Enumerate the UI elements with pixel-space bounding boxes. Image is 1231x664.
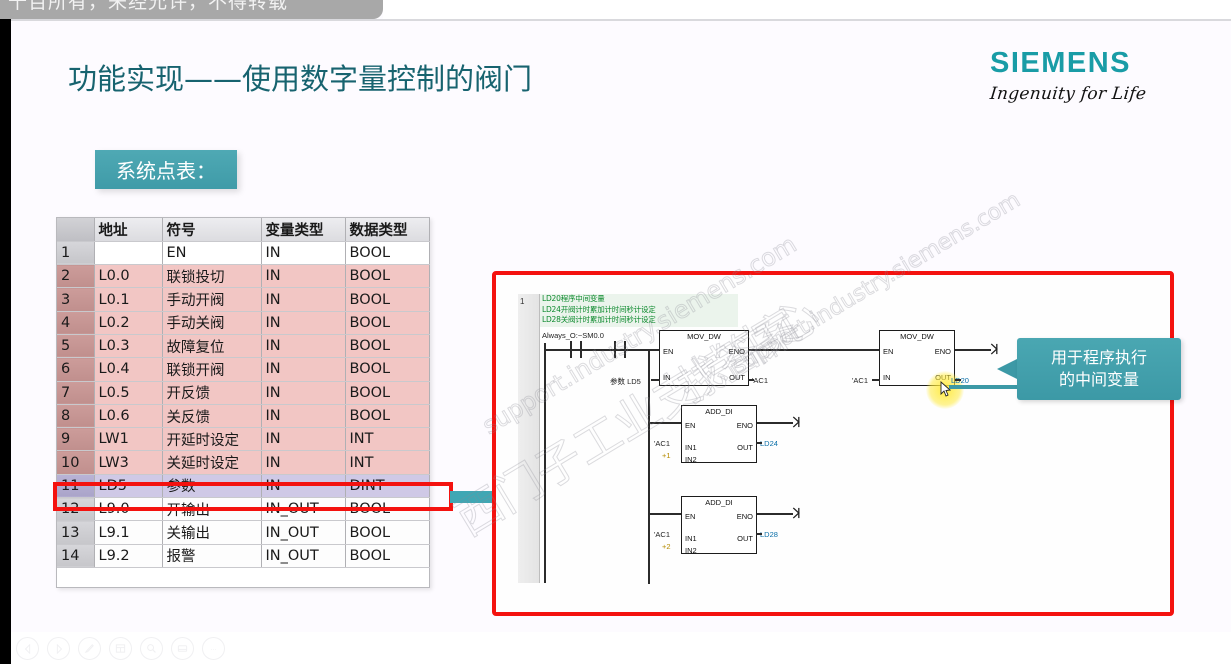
plc-diagram-panel[interactable]: 1 LD20程序中间变量 LD24开阀计时累加计时间秒计设定 LD28关阀计时累… — [492, 271, 1174, 616]
copyright-text: 千百所有，未经允许，不得转载 — [8, 0, 288, 14]
slide-viewer: 千百所有，未经允许，不得转载 功能实现——使用数字量控制的阀门 SIEMENS … — [0, 0, 1231, 664]
cell-address: L9.2 — [94, 544, 162, 567]
wire-branch-add1 — [648, 422, 682, 424]
network-comment-block: LD20程序中间变量 LD24开阀计时累加计时间秒计设定 LD28关阀计时累加计… — [540, 294, 738, 327]
cell-data-type: BOOL — [345, 334, 429, 357]
topbar-filler — [383, 0, 1231, 19]
pin-en: EN — [663, 347, 673, 356]
cell-address: LW3 — [94, 451, 162, 474]
cell-symbol: 开反馈 — [162, 381, 261, 404]
block-mov-dw-1[interactable]: MOV_DW EN ENO IN OUT — [659, 330, 749, 386]
row-number: 3 — [57, 288, 94, 311]
cell-var-type: IN — [261, 265, 345, 288]
contact-bar-left-a — [570, 341, 572, 358]
pin-en: EN — [883, 347, 893, 356]
row-number: 4 — [57, 311, 94, 334]
wire-out-mov1 — [748, 379, 754, 381]
row-number: 1 — [57, 241, 94, 264]
branch-vertical — [648, 349, 650, 584]
network-number: 1 — [520, 297, 524, 306]
input-label-add1-in1: 'AC1 — [654, 439, 670, 448]
cell-address: L9.1 — [94, 521, 162, 544]
cell-symbol: 故障复位 — [162, 334, 261, 357]
slide-view-button[interactable] — [171, 637, 194, 660]
row-number: 8 — [57, 404, 94, 427]
layout-icon — [115, 643, 126, 654]
input-label-ac1: 'AC1 — [852, 376, 868, 385]
triangle-left-icon — [23, 644, 33, 654]
cell-var-type: IN — [261, 428, 345, 451]
output-label-add1: LD24 — [760, 439, 778, 448]
cell-address: L0.3 — [94, 334, 162, 357]
coil-end-marker-3 — [792, 507, 801, 519]
cell-data-type: BOOL — [345, 288, 429, 311]
table-row[interactable]: 12 L9.0 开输出 IN_OUT BOOL — [57, 498, 429, 521]
cell-data-type: BOOL — [345, 265, 429, 288]
cell-symbol: 参数 — [162, 474, 261, 497]
coil-end-marker-1 — [990, 343, 999, 355]
comment-line-1: LD20程序中间变量 — [540, 294, 738, 305]
cell-address — [94, 241, 162, 264]
cell-var-type: IN — [261, 358, 345, 381]
block-name: ADD_DI — [682, 407, 756, 416]
cell-symbol: 联锁投切 — [162, 265, 261, 288]
callout-line-1: 用于程序执行 — [1051, 347, 1147, 369]
block-name: ADD_DI — [682, 498, 756, 507]
section-banner-label: 系统点表： — [95, 150, 237, 189]
row-number: 14 — [57, 544, 94, 567]
pin-eno: ENO — [935, 347, 951, 356]
pin-eno: ENO — [737, 512, 753, 521]
pin-in1: IN1 — [685, 534, 697, 543]
network-gutter — [518, 294, 540, 583]
table-row[interactable]: 6 L0.4 联锁开阀 IN BOOL — [57, 358, 429, 381]
left-black-edge — [0, 19, 11, 664]
cell-address: LD5 — [94, 474, 162, 497]
cell-var-type: IN — [261, 334, 345, 357]
wire-eno-add2 — [757, 513, 793, 515]
block-add-di-1[interactable]: ADD_DI EN ENO IN1 IN2 OUT — [681, 405, 757, 463]
column-header-datatype: 数据类型 — [345, 218, 429, 241]
input-label-parameter: 参数 LD5 — [610, 376, 641, 387]
table-body: 1 EN IN BOOL 2 L0.0 联锁投切 IN BOOL 3 — [57, 241, 429, 567]
cell-address: LW1 — [94, 428, 162, 451]
cell-data-type: INT — [345, 428, 429, 451]
pen-tool-button[interactable] — [78, 637, 101, 660]
slide-icon — [177, 643, 188, 654]
pin-in: IN — [663, 373, 671, 382]
cell-var-type: IN — [261, 381, 345, 404]
wire-eno-mov2 — [955, 349, 991, 351]
table-row[interactable]: 3 L0.1 手动开阀 IN BOOL — [57, 288, 429, 311]
magnifier-icon — [146, 643, 157, 654]
table-row[interactable]: 8 L0.6 关反馈 IN BOOL — [57, 404, 429, 427]
cell-data-type: BOOL — [345, 544, 429, 567]
cell-symbol: 手动开阀 — [162, 288, 261, 311]
table-row[interactable]: 10 LW3 关延时设定 IN INT — [57, 451, 429, 474]
copyright-strip: 千百所有，未经允许，不得转载 — [0, 0, 383, 19]
block-add-di-2[interactable]: ADD_DI EN ENO IN1 IN2 OUT — [681, 496, 757, 554]
table-row[interactable]: 2 L0.0 联锁投切 IN BOOL — [57, 265, 429, 288]
ladder-logic-editor[interactable]: 1 LD20程序中间变量 LD24开阀计时累加计时间秒计设定 LD28关阀计时累… — [496, 275, 1170, 612]
column-header-vartype: 变量类型 — [261, 218, 345, 241]
table-row[interactable]: 4 L0.2 手动关阀 IN BOOL — [57, 311, 429, 334]
input-label-add2-in1: 'AC1 — [654, 530, 670, 539]
more-options-label: ... — [211, 645, 217, 652]
contact-bar-left-b — [614, 341, 616, 358]
row-number: 6 — [57, 358, 94, 381]
pin-out: OUT — [737, 443, 753, 452]
page-title: 功能实现——使用数字量控制的阀门 — [68, 56, 532, 98]
pen-icon — [84, 643, 95, 654]
pin-en: EN — [685, 512, 695, 521]
callout-bubble: 用于程序执行 的中间变量 — [1017, 338, 1181, 400]
cell-symbol: 关反馈 — [162, 404, 261, 427]
comment-line-2: LD24开阀计时累加计时间秒计设定 — [540, 305, 738, 316]
cell-address: L9.0 — [94, 498, 162, 521]
table-row[interactable]: 14 L9.2 报警 IN_OUT BOOL — [57, 544, 429, 567]
cell-data-type: BOOL — [345, 404, 429, 427]
contact-bar-right-a — [580, 341, 582, 358]
cell-var-type: IN — [261, 404, 345, 427]
wire-eno-add1 — [757, 422, 793, 424]
table-row[interactable]: 7 L0.5 开反馈 IN BOOL — [57, 381, 429, 404]
pin-eno: ENO — [729, 347, 745, 356]
cell-data-type: BOOL — [345, 358, 429, 381]
comment-line-3: LD28关阀计时累加计时间秒计设定 — [540, 315, 738, 326]
row-number: 11 — [57, 474, 94, 497]
cell-address: L0.6 — [94, 404, 162, 427]
layout-button[interactable] — [109, 637, 132, 660]
cell-address: L0.0 — [94, 265, 162, 288]
cell-data-type: BOOL — [345, 311, 429, 334]
zoom-button[interactable] — [140, 637, 163, 660]
cell-var-type: IN_OUT — [261, 521, 345, 544]
callout-leader-line — [949, 385, 1019, 389]
cell-symbol: EN — [162, 241, 261, 264]
more-options-button[interactable]: ... — [202, 637, 225, 660]
contact-label-always-on: Always_O:~SM0.0 — [542, 331, 604, 340]
input-label-add1-in2: +1 — [662, 451, 671, 460]
next-slide-button[interactable] — [47, 637, 70, 660]
cell-data-type: BOOL — [345, 381, 429, 404]
row-number: 12 — [57, 498, 94, 521]
table-header-row: 地址 符号 变量类型 数据类型 — [57, 218, 429, 241]
row-number: 7 — [57, 381, 94, 404]
table-row[interactable]: 9 LW1 开延时设定 IN INT — [57, 428, 429, 451]
cell-symbol: 开延时设定 — [162, 428, 261, 451]
player-toolbar: ... — [11, 632, 1231, 664]
cell-address: L0.1 — [94, 288, 162, 311]
wire-out-add2 — [756, 533, 762, 535]
wire-eno-mov1 — [749, 349, 879, 351]
row-number: 13 — [57, 521, 94, 544]
section-banner: 系统点表： — [95, 150, 237, 189]
point-table: 地址 符号 变量类型 数据类型 1 EN IN BOOL — [56, 217, 430, 588]
cell-symbol: 报警 — [162, 544, 261, 567]
triangle-right-icon — [54, 644, 64, 654]
cell-var-type: IN — [261, 288, 345, 311]
column-header-index — [57, 218, 94, 241]
pin-in: IN — [883, 373, 891, 382]
block-name: MOV_DW — [660, 332, 748, 341]
cell-var-type: IN_OUT — [261, 544, 345, 567]
pin-out: OUT — [729, 373, 745, 382]
cell-symbol: 联锁开阀 — [162, 358, 261, 381]
cell-address: L0.5 — [94, 381, 162, 404]
cell-var-type: IN — [261, 474, 345, 497]
column-header-symbol: 符号 — [162, 218, 261, 241]
cell-data-type: BOOL — [345, 241, 429, 264]
block-name: MOV_DW — [880, 332, 954, 341]
wire-branch-add2 — [648, 513, 682, 515]
logo-wordmark: SIEMENS — [990, 49, 1186, 78]
wire-out-mov2 — [955, 379, 961, 381]
power-rail-left — [544, 343, 546, 583]
cell-var-type: IN — [261, 311, 345, 334]
cell-symbol: 关延时设定 — [162, 451, 261, 474]
table-row[interactable]: 13 L9.1 关输出 IN_OUT BOOL — [57, 521, 429, 544]
output-label-add2: LD28 — [760, 530, 778, 539]
cell-symbol: 关输出 — [162, 521, 261, 544]
wire-in-mov1 — [651, 379, 660, 381]
row-number: 10 — [57, 451, 94, 474]
coil-end-marker-2 — [792, 416, 801, 428]
pin-en: EN — [685, 421, 695, 430]
cell-var-type: IN — [261, 241, 345, 264]
cell-data-type: BOOL — [345, 498, 429, 521]
pin-eno: ENO — [737, 421, 753, 430]
siemens-logo: SIEMENS Ingenuity for Life — [990, 49, 1186, 107]
pin-in2: IN2 — [685, 455, 697, 464]
row-number: 9 — [57, 428, 94, 451]
slide-canvas: 功能实现——使用数字量控制的阀门 SIEMENS Ingenuity for L… — [11, 21, 1231, 632]
cell-address: L0.2 — [94, 311, 162, 334]
table-row[interactable]: 1 EN IN BOOL — [57, 241, 429, 264]
wire-out-add1 — [756, 442, 762, 444]
logo-tagline: Ingenuity for Life — [989, 84, 1187, 104]
table-row-selected[interactable]: 11 LD5 参数 IN DINT — [57, 474, 429, 497]
pin-in2: IN2 — [685, 546, 697, 555]
output-label-ac1: 'AC1 — [752, 376, 768, 385]
contact-bar-right-b — [624, 341, 626, 358]
cell-address: L0.4 — [94, 358, 162, 381]
cell-data-type: BOOL — [345, 521, 429, 544]
pin-out: OUT — [737, 534, 753, 543]
cell-var-type: IN — [261, 451, 345, 474]
cell-var-type: IN_OUT — [261, 498, 345, 521]
pin-in1: IN1 — [685, 443, 697, 452]
previous-slide-button[interactable] — [16, 637, 39, 660]
input-label-add2-in2: +2 — [662, 542, 671, 551]
mouse-cursor-icon — [940, 381, 951, 397]
wire-in-mov2 — [872, 379, 880, 381]
cell-symbol: 开输出 — [162, 498, 261, 521]
callout-line-2: 的中间变量 — [1059, 369, 1139, 391]
table-row[interactable]: 5 L0.3 故障复位 IN BOOL — [57, 334, 429, 357]
row-number: 5 — [57, 334, 94, 357]
cell-data-type: INT — [345, 451, 429, 474]
row-number: 2 — [57, 265, 94, 288]
column-header-address: 地址 — [94, 218, 162, 241]
cell-symbol: 手动关阀 — [162, 311, 261, 334]
cell-data-type: DINT — [345, 474, 429, 497]
